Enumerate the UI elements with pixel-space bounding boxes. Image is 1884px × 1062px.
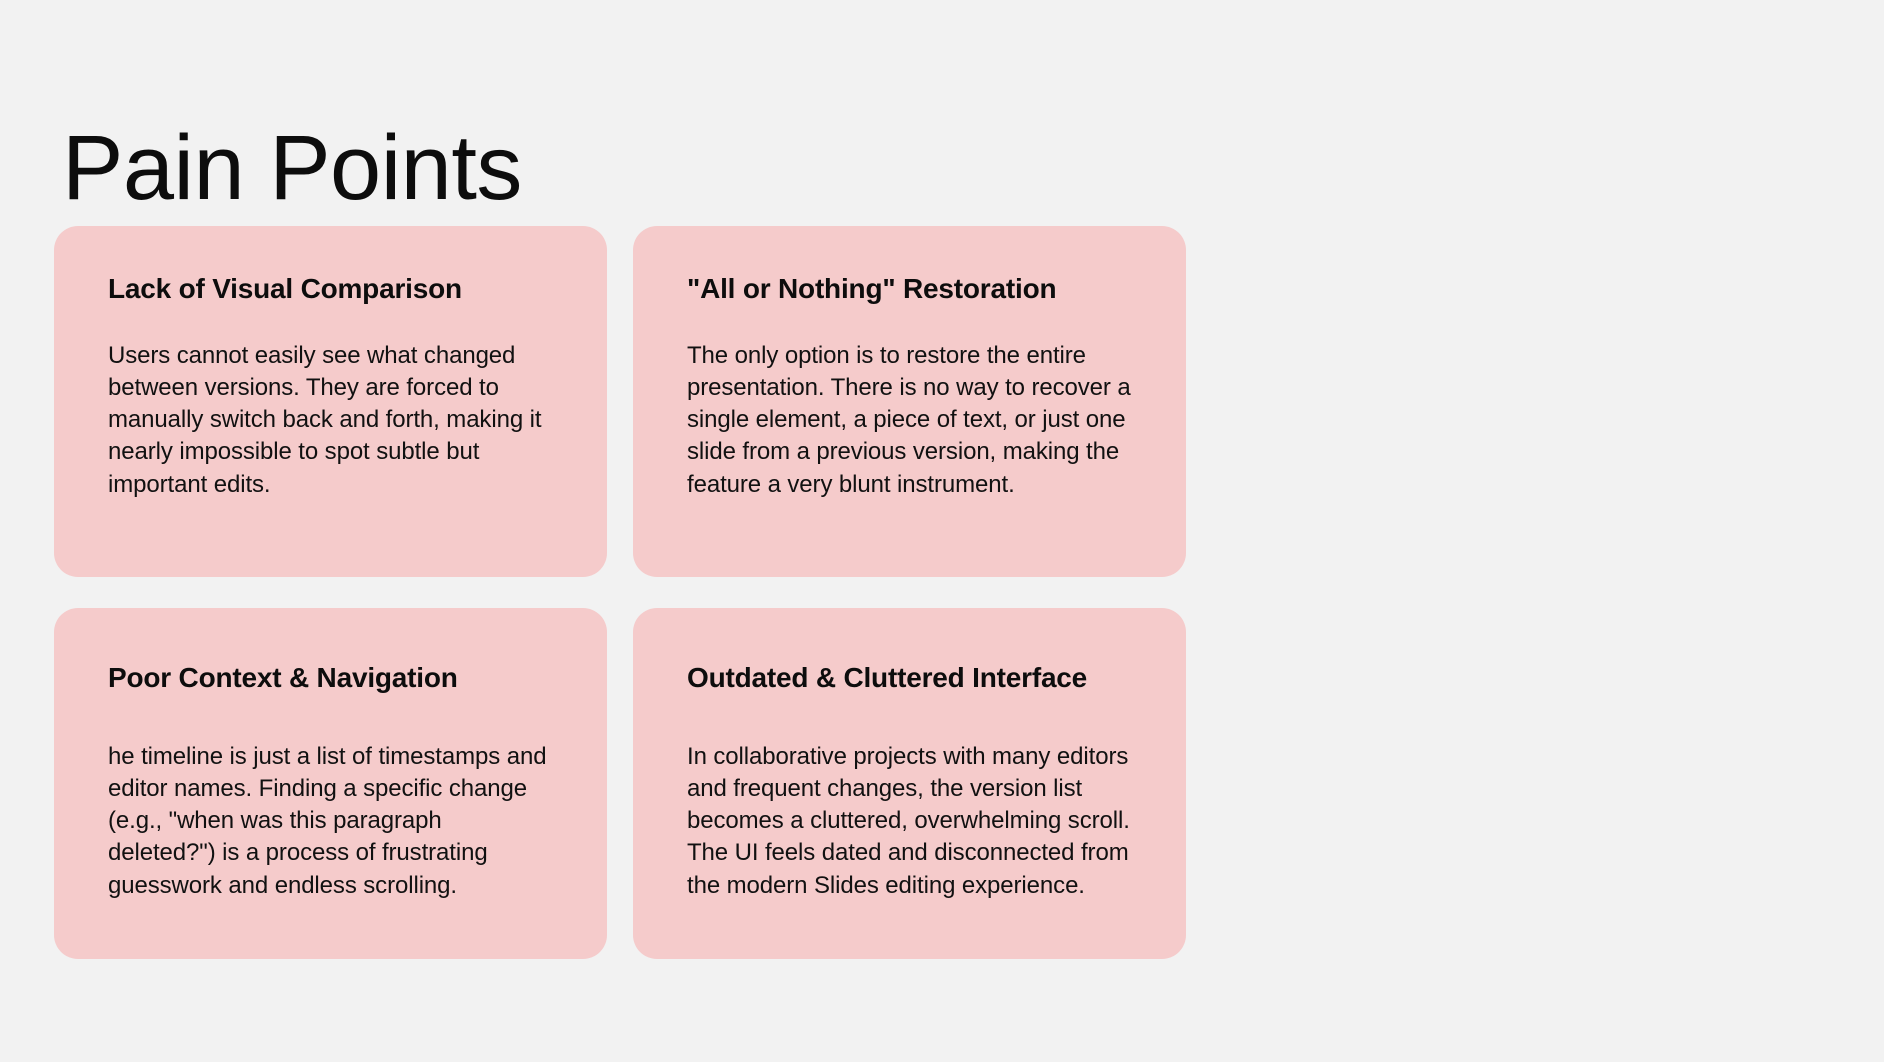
- slide-canvas: Pain Points Lack of Visual Comparison Us…: [0, 0, 1884, 1062]
- pain-point-card-poor-context-and-navigation[interactable]: Poor Context & Navigation he timeline is…: [54, 608, 607, 959]
- card-title: Poor Context & Navigation: [108, 660, 555, 695]
- card-body: In collaborative projects with many edit…: [687, 741, 1134, 902]
- card-body: Users cannot easily see what changed bet…: [108, 340, 555, 501]
- pain-point-card-all-or-nothing-restoration[interactable]: "All or Nothing" Restoration The only op…: [633, 226, 1186, 577]
- card-title: Lack of Visual Comparison: [108, 271, 555, 306]
- page-title: Pain Points: [62, 120, 522, 217]
- card-title: "All or Nothing" Restoration: [687, 271, 1134, 306]
- pain-point-card-lack-of-visual-comparison[interactable]: Lack of Visual Comparison Users cannot e…: [54, 226, 607, 577]
- pain-point-card-grid: Lack of Visual Comparison Users cannot e…: [54, 226, 1180, 959]
- card-body: he timeline is just a list of timestamps…: [108, 741, 555, 902]
- card-body: The only option is to restore the entire…: [687, 340, 1134, 501]
- pain-point-card-outdated-and-cluttered-interface[interactable]: Outdated & Cluttered Interface In collab…: [633, 608, 1186, 959]
- card-title: Outdated & Cluttered Interface: [687, 660, 1134, 695]
